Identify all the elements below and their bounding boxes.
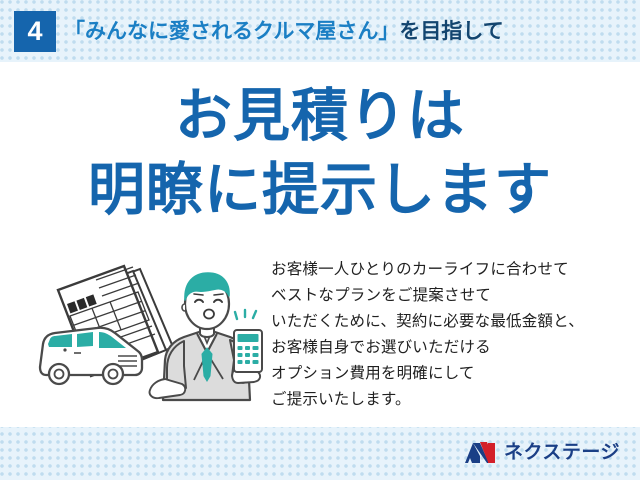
brand-name-text: ネクステージ <box>504 438 620 468</box>
promo-banner: 4 「みんなに愛されるクルマ屋さん」を目指して お見積りは 明瞭に提示します お… <box>0 0 640 480</box>
body-copy-line: お客様一人ひとりのカーライフに合わせて <box>271 257 639 283</box>
van-mirror-dot <box>63 348 66 351</box>
header-title: 「みんなに愛されるクルマ屋さん」を目指して <box>64 16 504 48</box>
sparkle-lines <box>235 310 256 319</box>
calculator-keys <box>238 346 259 364</box>
section-number-badge: 4 <box>14 11 56 52</box>
header-title-quoted: 「みんなに愛されるクルマ屋さん」 <box>64 20 399 43</box>
body-copy-line: いただくために、契約に必要な最低金額と、 <box>271 309 639 335</box>
sales-staff-illustration <box>34 248 266 408</box>
headline-line-2: 明瞭に提示します <box>0 156 640 224</box>
body-copy-line: ご提示いたします。 <box>271 387 639 413</box>
headline-line-1: お見積りは <box>0 82 640 150</box>
staff-mouth <box>204 310 214 319</box>
body-copy-line: ベストなプランをご提案させて <box>271 283 639 309</box>
calculator-icon <box>234 330 262 372</box>
van-window-mid <box>77 332 93 347</box>
calculator-display <box>238 334 259 342</box>
body-copy: お客様一人ひとりのカーライフに合わせて ベストなプランをご提案させて いただくた… <box>271 257 639 413</box>
header-band: 4 「みんなに愛されるクルマ屋さん」を目指して <box>0 0 640 62</box>
body-copy-line: オプション費用を明確にして <box>271 361 639 387</box>
footer-band: ネクステージ <box>0 427 640 480</box>
header-title-tail: を目指して <box>399 20 503 43</box>
headline: お見積りは 明瞭に提示します <box>0 82 640 224</box>
body-copy-line: お客様自身でお選びいただける <box>271 335 639 361</box>
content-panel: お見積りは 明瞭に提示します お客様一人ひとりのカーライフに合わせて ベストなプ… <box>0 62 640 427</box>
nextage-n-mark-icon <box>463 440 497 466</box>
brand-logo: ネクステージ <box>463 438 620 468</box>
